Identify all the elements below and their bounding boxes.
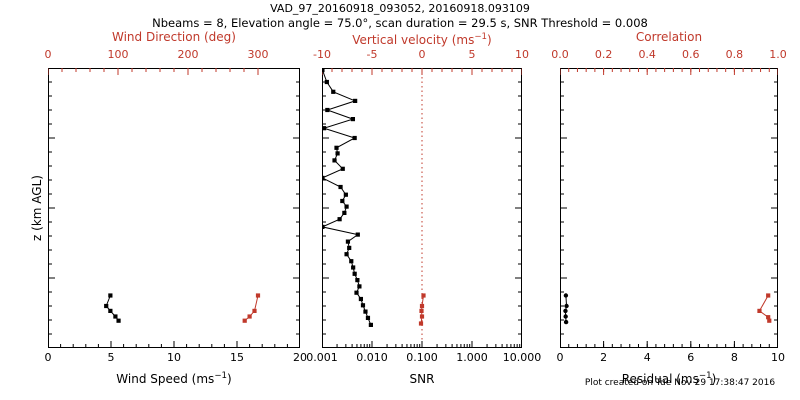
- top-tick-label: 0.8: [726, 49, 744, 61]
- top-tick-label: 0.4: [638, 49, 656, 61]
- bottom-tick-label: 10: [167, 352, 181, 364]
- panel-residual: Correlation Residual (ms−1) 0.00.20.40.6…: [560, 68, 778, 348]
- scan-parameters-subtitle: Nbeams = 8, Elevation angle = 75.0°, sca…: [0, 16, 800, 30]
- panel-residual-top-axis-title: Correlation: [560, 30, 778, 44]
- panel-wind-top-axis-title: Wind Direction (deg): [48, 30, 300, 44]
- bottom-tick-label: 6: [687, 352, 694, 364]
- top-tick-label: 0: [419, 49, 426, 61]
- bottom-tick-label: 10: [771, 352, 785, 364]
- top-tick-label: -10: [313, 49, 331, 61]
- top-tick-label: 0: [45, 49, 52, 61]
- page-title: VAD_97_20160918_093052, 20160918.093109: [0, 2, 800, 15]
- plot-canvas: VAD_97_20160918_093052, 20160918.093109 …: [0, 0, 800, 400]
- panel-wind-bottom-axis-title: Wind Speed (ms−1): [48, 369, 300, 386]
- top-tick-label: 5: [469, 49, 476, 61]
- bottom-tick-label: 4: [644, 352, 651, 364]
- bottom-tick-label: 0: [45, 352, 52, 364]
- top-tick-label: 100: [108, 49, 129, 61]
- bottom-tick-label: 2: [600, 352, 607, 364]
- bottom-tick-label: 1.000: [456, 352, 488, 364]
- panel-snr-plot-area: [322, 68, 522, 348]
- bottom-tick-label: 15: [230, 352, 244, 364]
- bottom-tick-label: 10.000: [503, 352, 542, 364]
- top-tick-label: 0.0: [551, 49, 569, 61]
- bottom-tick-label: 0: [557, 352, 564, 364]
- top-tick-label: 0.2: [595, 49, 613, 61]
- bottom-tick-label: 8: [731, 352, 738, 364]
- panel-wind: Wind Direction (deg) Wind Speed (ms−1) z…: [48, 68, 300, 348]
- top-tick-label: 200: [178, 49, 199, 61]
- panel-residual-plot-area: [560, 68, 778, 348]
- bottom-tick-label: 0.100: [406, 352, 438, 364]
- top-tick-label: 0.6: [682, 49, 700, 61]
- top-tick-label: 10: [515, 49, 529, 61]
- top-tick-label: -5: [367, 49, 378, 61]
- panel-snr: Vertical velocity (ms−1) SNR -10-505100.…: [322, 68, 522, 348]
- top-tick-label: 300: [248, 49, 269, 61]
- panel-wind-plot-area: [48, 68, 300, 348]
- bottom-tick-label: 0.010: [356, 352, 388, 364]
- bottom-tick-label: 5: [108, 352, 115, 364]
- plot-created-footer: Plot created on Tue Nov 29 17:38:47 2016: [560, 378, 800, 389]
- bottom-tick-label: 20: [293, 352, 307, 364]
- y-axis-title: z (km AGL): [30, 175, 44, 241]
- bottom-tick-label: 0.001: [306, 352, 338, 364]
- panel-snr-top-axis-title: Vertical velocity (ms−1): [322, 30, 522, 47]
- panel-snr-bottom-axis-title: SNR: [322, 372, 522, 386]
- top-tick-label: 1.0: [769, 49, 787, 61]
